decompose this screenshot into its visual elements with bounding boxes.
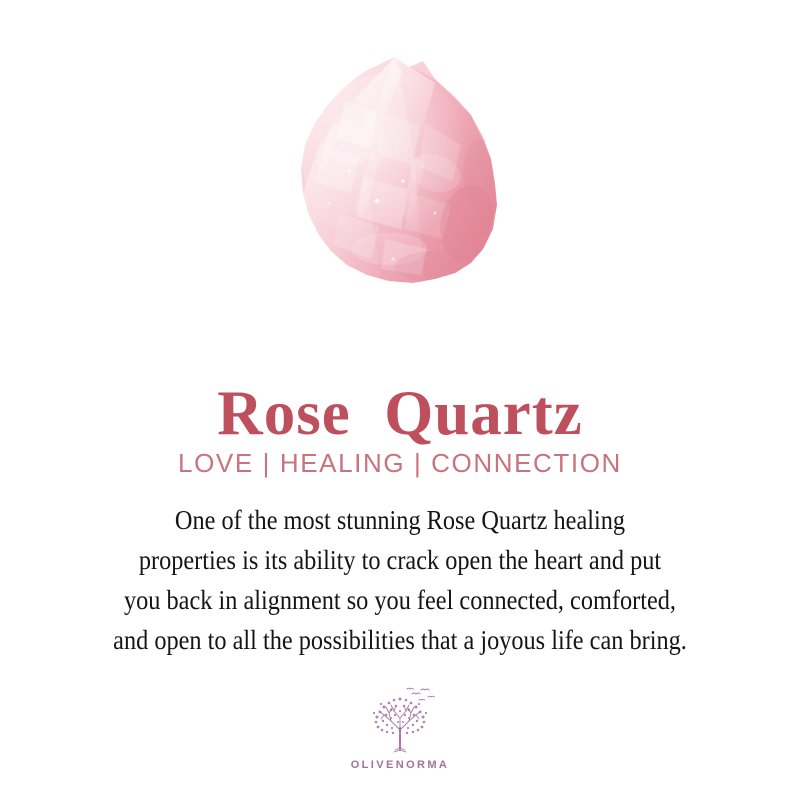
brand-logo: OLIVENORMA [0,684,800,771]
description-line: properties is its ability to crack open … [58,540,742,580]
brand-name: OLIVENORMA [351,759,450,771]
description-line: you back in alignment so you feel connec… [58,580,742,620]
tree-of-life-with-birds-icon [362,684,438,756]
product-info-card: Rose Quartz LOVE | HEALING | CONNECTION … [0,0,800,800]
product-keywords: LOVE | HEALING | CONNECTION [0,447,800,479]
product-image [0,28,800,298]
rose-quartz-crystal-icon [285,53,515,298]
page-title: Rose Quartz [0,378,800,448]
product-description: One of the most stunning Rose Quartz hea… [20,500,780,660]
description-line: and open to all the possibilities that a… [58,620,742,660]
description-line: One of the most stunning Rose Quartz hea… [58,500,742,540]
